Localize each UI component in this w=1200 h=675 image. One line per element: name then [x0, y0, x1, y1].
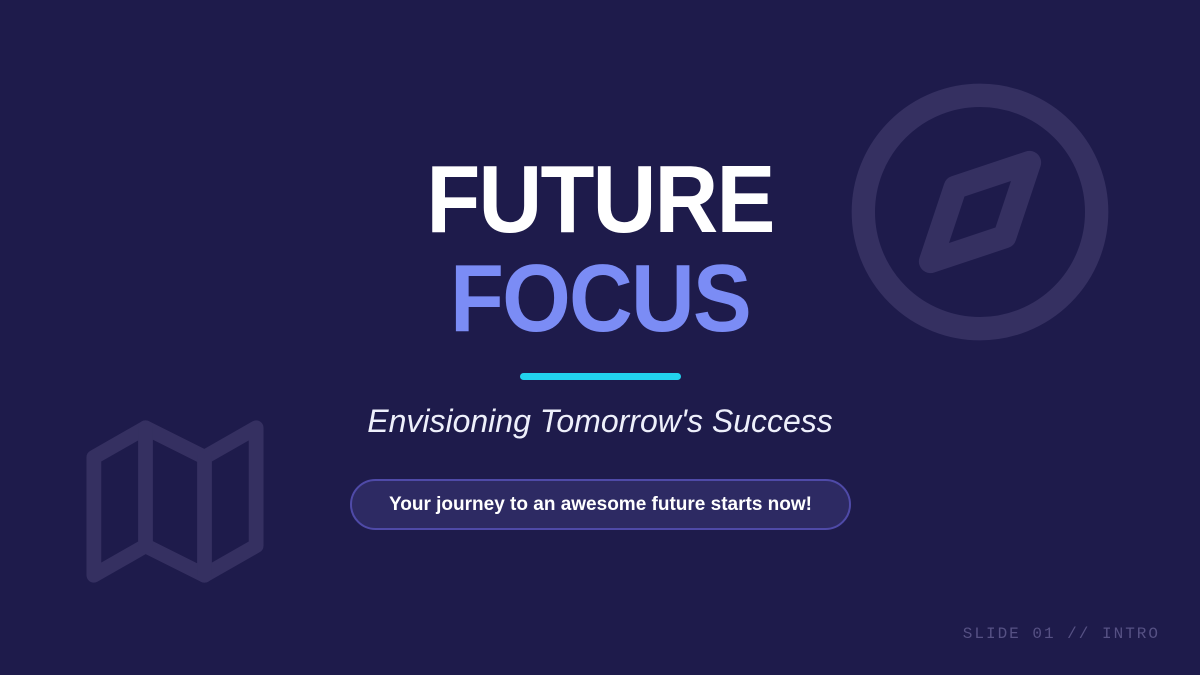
slide-content: FUTURE FOCUS Envisioning Tomorrow's Succ…	[0, 0, 1200, 675]
cta-pill-label: Your journey to an awesome future starts…	[389, 494, 812, 516]
slide-footer-tag: SLIDE 01 // INTRO	[963, 625, 1160, 643]
presentation-slide: FUTURE FOCUS Envisioning Tomorrow's Succ…	[0, 0, 1200, 675]
cta-pill-button[interactable]: Your journey to an awesome future starts…	[350, 479, 851, 530]
slide-title-primary: FUTURE	[48, 152, 1152, 248]
slide-title-secondary: FOCUS	[48, 251, 1152, 347]
slide-subtitle: Envisioning Tomorrow's Success	[0, 403, 1200, 440]
title-divider	[520, 373, 681, 380]
